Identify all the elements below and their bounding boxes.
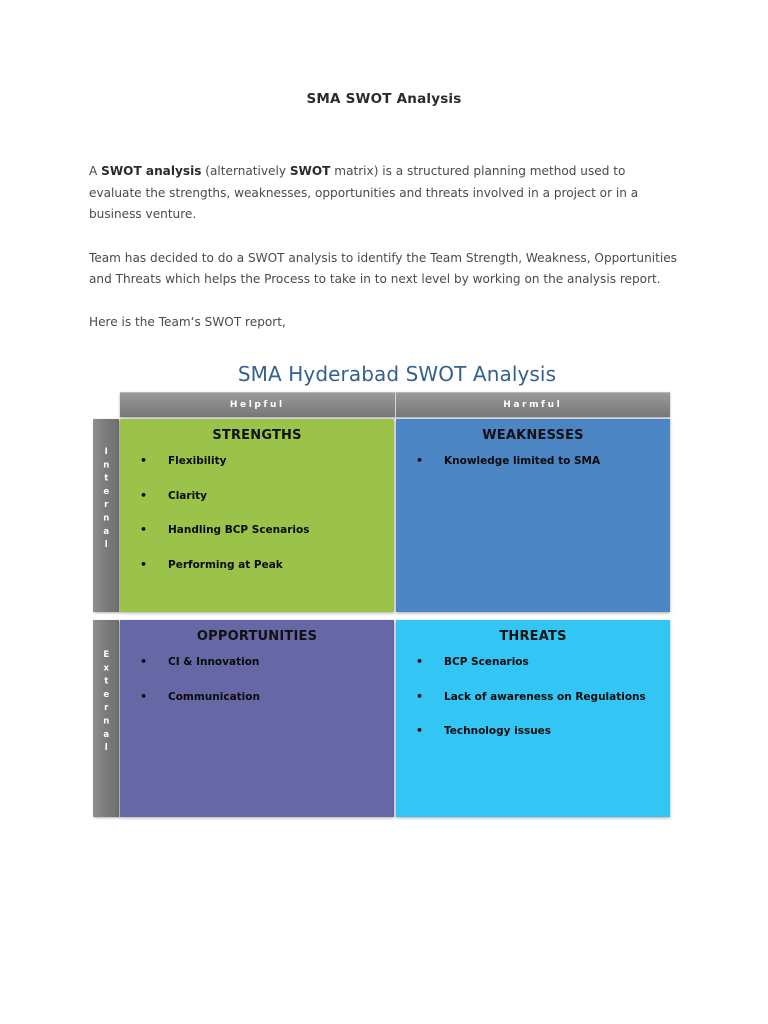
column-header-harmful: Harmful: [396, 392, 671, 417]
quadrant-threats-title: THREATS: [406, 629, 660, 644]
row-header-internal-label: Internal: [102, 447, 111, 583]
list-item: Performing at Peak: [140, 559, 384, 572]
list-item: BCP Scenarios: [416, 656, 660, 669]
row-header-external: External: [93, 620, 119, 817]
paragraph-team-decision: Team has decided to do a SWOT analysis t…: [89, 248, 679, 291]
list-item: Clarity: [140, 490, 384, 503]
list-item: Lack of awareness on Regulations: [416, 691, 660, 704]
quadrant-strengths-title: STRENGTHS: [130, 428, 384, 443]
swot-chart-title: SMA Hyderabad SWOT Analysis: [121, 362, 673, 386]
quadrant-strengths: STRENGTHS Flexibility Clarity Handling B…: [120, 419, 394, 612]
list-item: Technology issues: [416, 725, 660, 738]
paragraph-report-lead-in: Here is the Team‘s SWOT report,: [89, 312, 679, 334]
quadrant-opportunities-title: OPPORTUNITIES: [130, 629, 384, 644]
row-header-external-label: External: [102, 650, 111, 786]
list-item: Handling BCP Scenarios: [140, 524, 384, 537]
document-body: SMA SWOT Analysis A SWOT analysis (alter…: [89, 0, 679, 345]
list-item: CI & Innovation: [140, 656, 384, 669]
list-item: Knowledge limited to SMA: [416, 455, 660, 468]
paragraph-intro: A SWOT analysis (alternatively SWOT matr…: [89, 161, 679, 226]
swot-figure: SMA Hyderabad SWOT Analysis Helpful Harm…: [93, 362, 673, 817]
quadrant-strengths-list: Flexibility Clarity Handling BCP Scenari…: [130, 455, 384, 571]
emphasis-swot-analysis: SWOT analysis: [101, 164, 201, 178]
quadrant-opportunities: OPPORTUNITIES CI & Innovation Communicat…: [120, 620, 394, 817]
swot-row-header-column: Internal External: [93, 419, 119, 817]
emphasis-swot: SWOT: [290, 164, 331, 178]
list-item: Communication: [140, 691, 384, 704]
quadrant-weaknesses-title: WEAKNESSES: [406, 428, 660, 443]
quadrant-weaknesses: WEAKNESSES Knowledge limited to SMA: [396, 419, 670, 612]
swot-column-header-row: Helpful Harmful: [120, 392, 670, 417]
page-title: SMA SWOT Analysis: [89, 91, 679, 107]
list-item: Flexibility: [140, 455, 384, 468]
quadrant-opportunities-list: CI & Innovation Communication: [130, 656, 384, 703]
column-header-helpful: Helpful: [120, 392, 396, 417]
row-header-internal: Internal: [93, 419, 119, 612]
swot-quadrant-grid: STRENGTHS Flexibility Clarity Handling B…: [120, 419, 670, 817]
quadrant-threats-list: BCP Scenarios Lack of awareness on Regul…: [406, 656, 660, 738]
quadrant-weaknesses-list: Knowledge limited to SMA: [406, 455, 660, 468]
quadrant-threats: THREATS BCP Scenarios Lack of awareness …: [396, 620, 670, 817]
swot-matrix: Helpful Harmful Internal External STRENG…: [93, 392, 671, 817]
